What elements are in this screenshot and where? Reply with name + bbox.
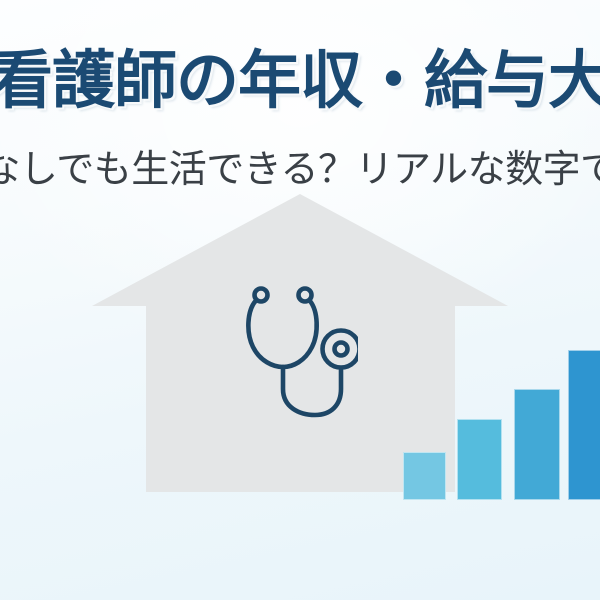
bar-2 bbox=[457, 419, 502, 500]
page-subtitle: なしでも生活できる？リアルな数字で bbox=[0, 150, 600, 192]
bar-3 bbox=[514, 389, 560, 500]
bar-4 bbox=[568, 350, 600, 500]
bar-chart bbox=[0, 330, 600, 500]
page-title: 看護師の年収・給与大 bbox=[0, 50, 600, 113]
bar-1 bbox=[403, 452, 446, 500]
graphic-canvas: 看護師の年収・給与大 なしでも生活できる？リアルな数字で bbox=[0, 0, 600, 600]
